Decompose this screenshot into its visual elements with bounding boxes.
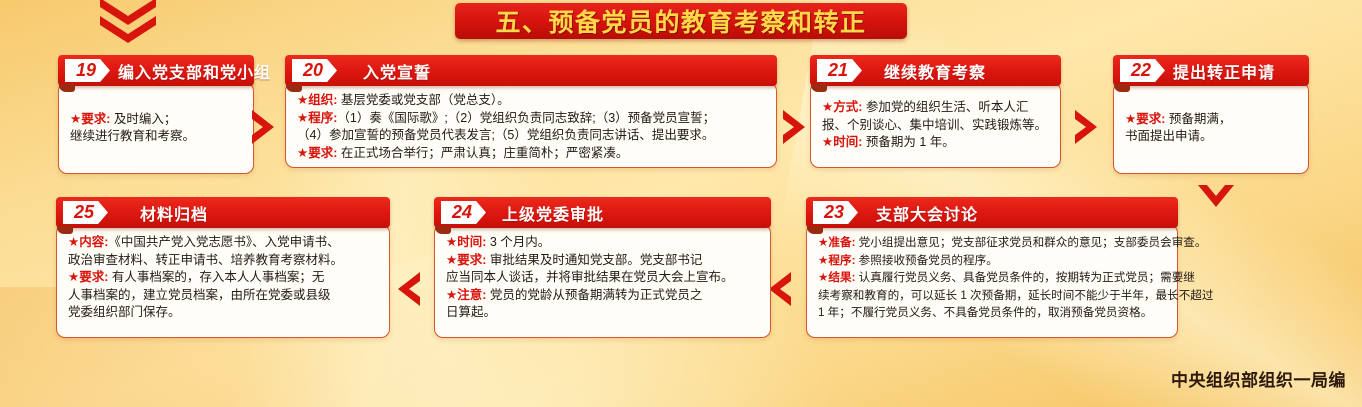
card-20-number-badge: 20 (292, 59, 337, 82)
card-20-text-3: 在正式场合举行；严肃认真；庄重简朴；严密紧凑。 (337, 146, 628, 160)
card-23-label-0: ★准备: (818, 236, 855, 249)
card-19-text-1: 继续进行教育和考察。 (70, 129, 195, 143)
card-23-text-2: 认真履行党员义务、具备党员条件的，按期转为正式党员；需要继 (855, 271, 1194, 284)
card-21-label-0: ★方式: (822, 100, 862, 114)
card-24-text-3: 党员的党龄从预备期满转为正式党员之 (486, 288, 702, 302)
card-25-body: ★内容:《中国共产党入党志愿书》、入党申请书、 政治审查材料、转正申请书、培养教… (56, 224, 390, 338)
card-23-label-2: ★结果: (818, 271, 855, 284)
card-20-line-0: ★组织: 基层党委或党支部（党总支）。 (297, 92, 766, 110)
card-22-number-badge: 22 (1120, 59, 1165, 82)
card-23-label-1: ★程序: (818, 254, 855, 267)
arrow-24-to-25-icon (396, 270, 422, 308)
card-23-line-1: ★程序: 参照接收预备党员的程序。 (818, 252, 1167, 270)
card-19-title: 编入党支部和党小组 (118, 59, 271, 83)
card-25-line-4: 党委组织部门保存。 (68, 304, 379, 322)
card-22-line-0: ★要求: 预备期满， (1125, 111, 1298, 129)
card-21-body: ★方式: 参加党的组织生活、听本人汇 报、个别谈心、集中培训、实践锻炼等。 ★时… (810, 82, 1061, 168)
card-25-text-1: 政治审查材料、转正申请书、培养教育考察材料。 (68, 253, 343, 267)
card-24-text-2: 应当同本人谈话，并将审批结果在党员大会上宣布。 (446, 270, 734, 284)
arrow-22-to-23-icon (1196, 183, 1236, 209)
card-24-line-4: 日算起。 (446, 304, 760, 322)
card-20-text-2: （4）参加宣誓的预备党员代表发言;（5）党组织负责同志讲话、提出要求。 (297, 128, 714, 142)
arrow-20-to-21-icon (781, 108, 807, 146)
card-21-number-badge: 21 (817, 59, 862, 82)
card-21-text-0: 参加党的组织生活、听本人汇 (862, 100, 1028, 114)
section-title-bar: 五、预备党员的教育考察和转正 (455, 3, 907, 39)
card-23-number-badge: 23 (813, 201, 858, 224)
card-20-text-0: 基层党委或党支部（党总支）。 (337, 93, 509, 107)
card-24-text-0: 3 个月内。 (486, 235, 550, 249)
card-22-text-1: 书面提出申请。 (1125, 129, 1213, 143)
card-24-header: 24 上级党委审批 (434, 197, 771, 228)
card-25-text-2: 有人事档案的，存入本人人事档案；无 (108, 270, 324, 284)
publisher-credit: 中央组织部组织一局编 (1171, 366, 1346, 391)
card-19-header: 19 编入党支部和党小组 (58, 55, 254, 86)
card-23-line-2: ★结果: 认真履行党员义务、具备党员条件的，按期转为正式党员；需要继 (818, 269, 1167, 287)
card-19-body: ★要求: 及时编入； 继续进行教育和考察。 (58, 82, 254, 174)
infographic-root: 五、预备党员的教育考察和转正 19 编入党支部和党小组 ★要求: 及时编入； 继… (0, 0, 1362, 407)
card-25-text-4: 党委组织部门保存。 (68, 305, 181, 319)
card-24-line-0: ★时间: 3 个月内。 (446, 234, 760, 252)
card-21-label-2: ★时间: (822, 135, 862, 149)
card-25-number-badge: 25 (63, 201, 108, 224)
card-24-number-badge: 24 (441, 201, 486, 224)
card-21-text-1: 报、个别谈心、集中培训、实践锻炼等。 (822, 118, 1047, 132)
card-19-line-1: 继续进行教育和考察。 (70, 128, 243, 146)
card-19-line-0: ★要求: 及时编入； (70, 111, 243, 129)
card-23-line-4: 1 年；不履行党员义务、不具备党员条件的，取消预备党员资格。 (818, 304, 1167, 322)
card-23-text-1: 参照接收预备党员的程序。 (855, 254, 997, 267)
card-24-label-0: ★时间: (446, 235, 486, 249)
card-23-title: 支部大会讨论 (876, 201, 978, 225)
card-25-label-0: ★内容: (68, 235, 108, 249)
card-23-text-4: 1 年；不履行党员义务、不具备党员条件的，取消预备党员资格。 (818, 306, 1152, 319)
card-20-body: ★组织: 基层党委或党支部（党总支）。 ★程序:（1）奏《国际歌》;（2）党组织… (285, 82, 777, 168)
card-20-title: 入党宣誓 (363, 59, 431, 83)
card-21-line-2: ★时间: 预备期为 1 年。 (822, 134, 1050, 152)
card-24-title: 上级党委审批 (502, 201, 604, 225)
card-20-header: 20 入党宣誓 (285, 55, 777, 86)
card-24-line-3: ★注意: 党员的党龄从预备期满转为正式党员之 (446, 287, 760, 305)
card-23-header: 23 支部大会讨论 (806, 197, 1178, 228)
card-25-label-2: ★要求: (68, 270, 108, 284)
card-24-body: ★时间: 3 个月内。 ★要求: 审批结果及时通知党支部。党支部书记 应当同本人… (434, 224, 771, 338)
card-20[interactable]: 20 入党宣誓 ★组织: 基层党委或党支部（党总支）。 ★程序:（1）奏《国际歌… (285, 55, 777, 168)
card-20-line-2: （4）参加宣誓的预备党员代表发言;（5）党组织负责同志讲话、提出要求。 (297, 127, 766, 145)
card-24-text-1: 审批结果及时通知党支部。党支部书记 (486, 253, 702, 267)
arrow-19-to-20-icon (250, 108, 276, 146)
card-22-body: ★要求: 预备期满， 书面提出申请。 (1113, 82, 1309, 174)
card-21-line-1: 报、个别谈心、集中培训、实践锻炼等。 (822, 117, 1050, 135)
card-19[interactable]: 19 编入党支部和党小组 ★要求: 及时编入； 继续进行教育和考察。 (58, 55, 254, 174)
card-24-line-2: 应当同本人谈话，并将审批结果在党员大会上宣布。 (446, 269, 760, 287)
card-20-text-1: （1）奏《国际歌》;（2）党组织负责同志致辞;（3）预备党员宣誓； (337, 111, 715, 125)
card-20-label-3: ★要求: (297, 146, 337, 160)
card-25-line-1: 政治审查材料、转正申请书、培养教育考察材料。 (68, 252, 379, 270)
card-19-label-0: ★要求: (70, 112, 110, 126)
card-23-text-3: 续考察和教育的，可以延长 1 次预备期，延长时间不能少于半年，最长不超过 (818, 289, 1214, 302)
card-25-line-2: ★要求: 有人事档案的，存入本人人事档案；无 (68, 269, 379, 287)
card-21-header: 21 继续教育考察 (810, 55, 1061, 86)
card-24-line-1: ★要求: 审批结果及时通知党支部。党支部书记 (446, 252, 760, 270)
card-19-text-0: 及时编入； (110, 112, 176, 126)
card-20-line-3: ★要求: 在正式场合举行；严肃认真；庄重简朴；严密紧凑。 (297, 145, 766, 163)
card-25-text-0: 《中国共产党入党志愿书》、入党申请书、 (108, 235, 339, 249)
card-23[interactable]: 23 支部大会讨论 ★准备: 党小组提出意见；党支部征求党员和群众的意见；支部委… (806, 197, 1178, 338)
card-22-line-1: 书面提出申请。 (1125, 128, 1298, 146)
card-24-label-3: ★注意: (446, 288, 486, 302)
arrow-21-to-22-icon (1073, 108, 1099, 146)
card-22[interactable]: 22 提出转正申请 ★要求: 预备期满， 书面提出申请。 (1113, 55, 1309, 174)
card-25-header: 25 材料归档 (56, 197, 390, 228)
card-19-number-badge: 19 (65, 59, 110, 82)
card-22-title: 提出转正申请 (1173, 59, 1275, 83)
card-25[interactable]: 25 材料归档 ★内容:《中国共产党入党志愿书》、入党申请书、 政治审查材料、转… (56, 197, 390, 338)
entry-double-chevron-icon (96, 0, 160, 46)
card-21-text-2: 预备期为 1 年。 (862, 135, 954, 149)
card-22-header: 22 提出转正申请 (1113, 55, 1309, 86)
card-21[interactable]: 21 继续教育考察 ★方式: 参加党的组织生活、听本人汇 报、个别谈心、集中培训… (810, 55, 1061, 168)
card-25-line-0: ★内容:《中国共产党入党志愿书》、入党申请书、 (68, 234, 379, 252)
card-23-line-3: 续考察和教育的，可以延长 1 次预备期，延长时间不能少于半年，最长不超过 (818, 287, 1167, 305)
card-22-text-0: 预备期满， (1165, 112, 1231, 126)
card-25-title: 材料归档 (140, 201, 208, 225)
card-25-text-3: 人事档案的，建立党员档案，由所在党委或县级 (68, 288, 331, 302)
card-23-line-0: ★准备: 党小组提出意见；党支部征求党员和群众的意见；支部委员会审查。 (818, 234, 1167, 252)
card-24[interactable]: 24 上级党委审批 ★时间: 3 个月内。 ★要求: 审批结果及时通知党支部。党… (434, 197, 771, 338)
card-24-text-4: 日算起。 (446, 305, 496, 319)
card-23-body: ★准备: 党小组提出意见；党支部征求党员和群众的意见；支部委员会审查。 ★程序:… (806, 224, 1178, 338)
card-24-label-1: ★要求: (446, 253, 486, 267)
card-20-label-0: ★组织: (297, 93, 337, 107)
card-23-text-0: 党小组提出意见；党支部征求党员和群众的意见；支部委员会审查。 (855, 236, 1206, 249)
card-20-label-1: ★程序: (297, 111, 337, 125)
card-21-title: 继续教育考察 (884, 59, 986, 83)
card-20-line-1: ★程序:（1）奏《国际歌》;（2）党组织负责同志致辞;（3）预备党员宣誓； (297, 110, 766, 128)
card-22-label-0: ★要求: (1125, 112, 1165, 126)
card-21-line-0: ★方式: 参加党的组织生活、听本人汇 (822, 99, 1050, 117)
card-25-line-3: 人事档案的，建立党员档案，由所在党委或县级 (68, 287, 379, 305)
page-title: 五、预备党员的教育考察和转正 (495, 3, 866, 39)
